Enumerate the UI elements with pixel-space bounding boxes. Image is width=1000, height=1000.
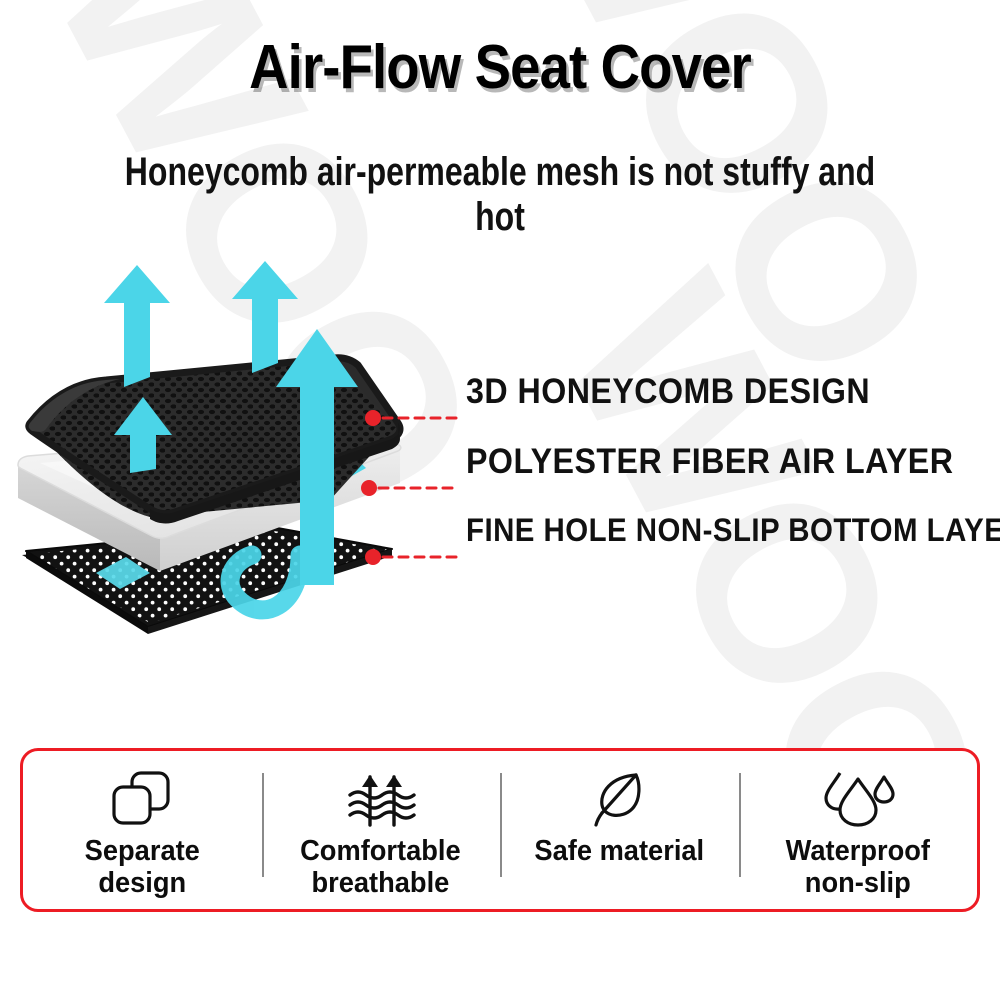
feature-label-line1: Separate bbox=[85, 835, 200, 867]
feature-waterproof-non-slip: Waterproof non-slip bbox=[739, 751, 978, 909]
water-droplets-icon bbox=[818, 767, 898, 829]
leader-dot bbox=[361, 480, 377, 496]
feature-label-line1: Waterproof bbox=[786, 835, 930, 867]
leader-dot bbox=[365, 549, 381, 565]
feature-label-line1: Safe material bbox=[534, 835, 704, 867]
feature-safe-material: Safe material bbox=[500, 751, 739, 909]
feature-label: Comfortable breathable bbox=[300, 835, 461, 900]
leaf-icon bbox=[588, 767, 650, 829]
layer-label-polyester: POLYESTER FIBER AIR LAYER bbox=[466, 442, 953, 482]
infographic-canvas: WOO WOO WOO Air-Flow Seat Cover Honeycom… bbox=[0, 0, 1000, 1000]
page-title: Air-Flow Seat Cover bbox=[60, 32, 940, 103]
leader-dot bbox=[365, 410, 381, 426]
breathable-waves-arrows-icon bbox=[342, 767, 420, 829]
feature-bar: Separate design bbox=[20, 748, 980, 912]
airflow-arrow-up bbox=[232, 261, 298, 373]
layer-label-honeycomb: 3D HONEYCOMB DESIGN bbox=[466, 372, 870, 412]
feature-label: Separate design bbox=[85, 835, 200, 900]
feature-label-line2: breathable bbox=[300, 867, 461, 899]
feature-comfortable-breathable: Comfortable breathable bbox=[262, 751, 501, 909]
layer-label-non-slip: FINE HOLE NON-SLIP BOTTOM LAYER bbox=[466, 512, 1000, 549]
page-subtitle: Honeycomb air-permeable mesh is not stuf… bbox=[100, 150, 900, 240]
feature-separate-design: Separate design bbox=[23, 751, 262, 909]
airflow-arrow-up bbox=[104, 265, 170, 387]
feature-label: Waterproof non-slip bbox=[786, 835, 930, 900]
feature-label-line2: non-slip bbox=[786, 867, 930, 899]
feature-label-line1: Comfortable bbox=[300, 835, 461, 867]
feature-label-line2: design bbox=[85, 867, 200, 899]
overlapping-squares-icon bbox=[106, 767, 178, 829]
feature-label: Safe material bbox=[534, 835, 704, 867]
